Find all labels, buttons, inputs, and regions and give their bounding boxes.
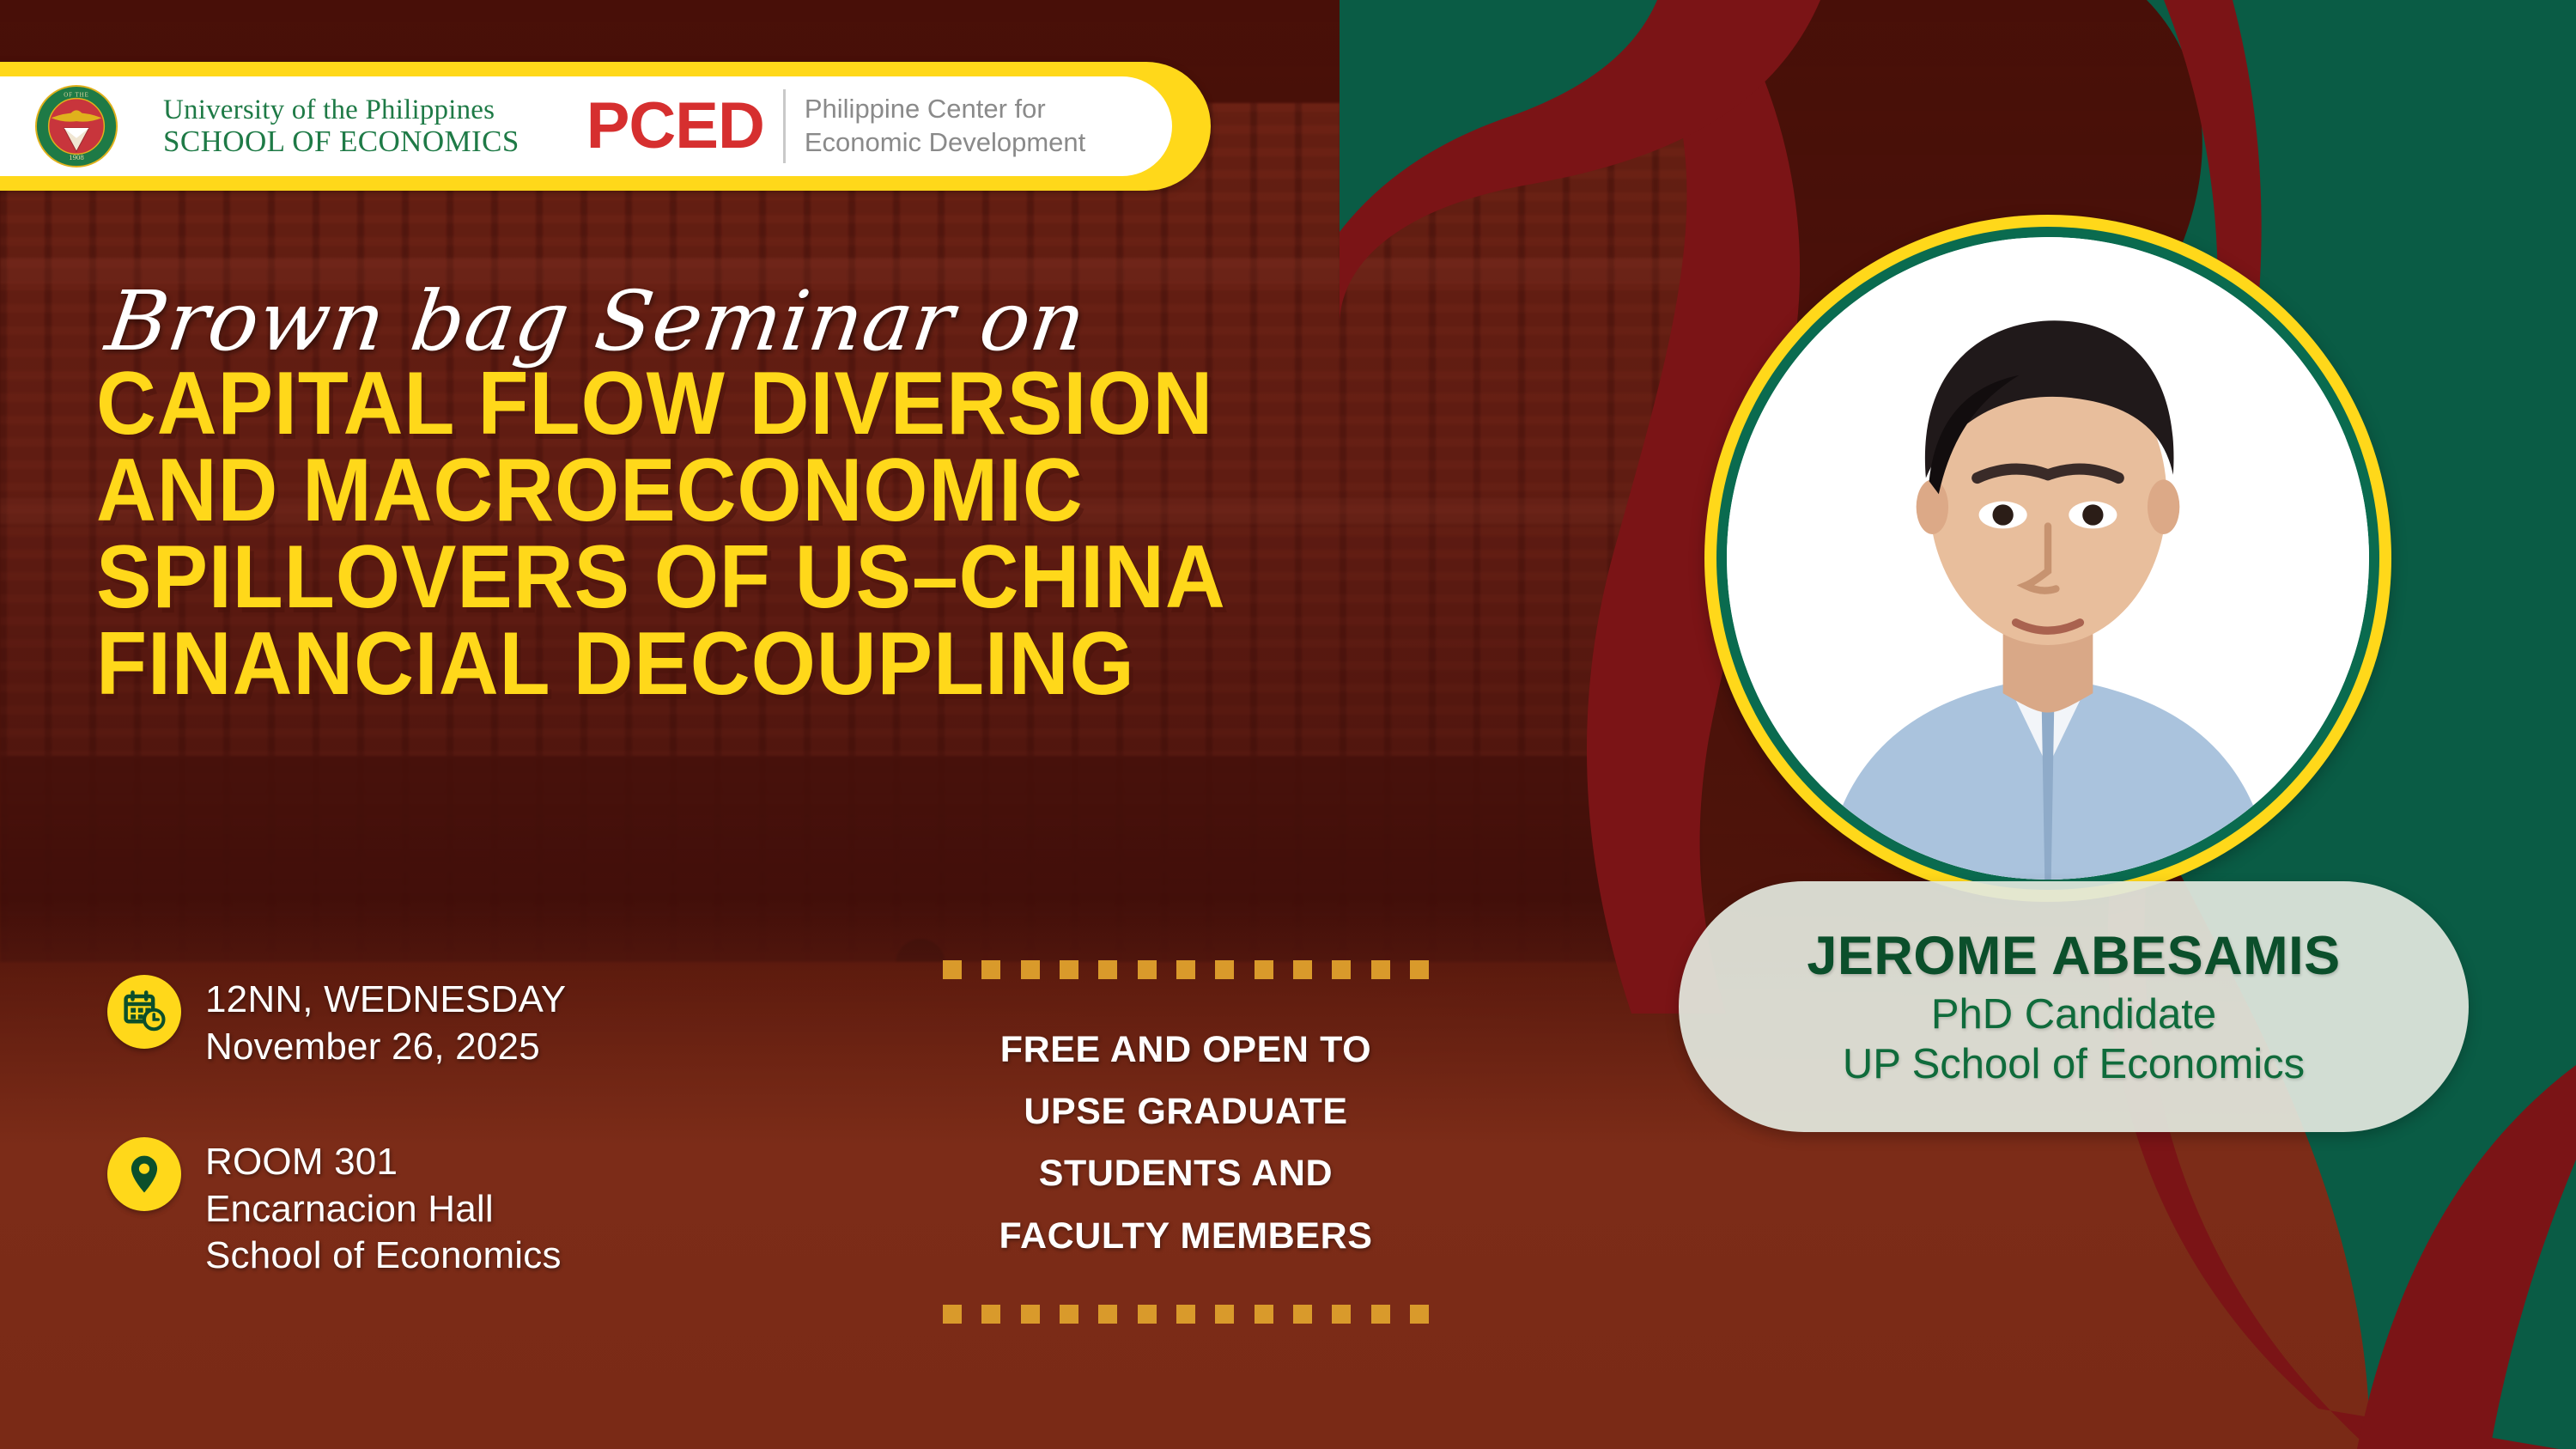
datetime-line-1: 12NN, WEDNESDAY xyxy=(205,977,566,1024)
speaker-photo-frame xyxy=(1704,215,2391,902)
up-wordmark: University of the Philippines SCHOOL OF … xyxy=(163,95,519,157)
pced-fullname: Philippine Center for Economic Developme… xyxy=(805,93,1085,160)
logo-header-bar: 1908 OF THE University of the Philippine… xyxy=(0,62,1211,191)
speaker-avatar xyxy=(1727,237,2369,880)
audience-line-3: STUDENTS AND xyxy=(943,1142,1429,1204)
datetime-row: 12NN, WEDNESDAY November 26, 2025 xyxy=(107,975,760,1070)
speaker-portrait xyxy=(1727,237,2369,880)
seminar-title: CAPITAL FLOW DIVERSION AND MACROECONOMIC… xyxy=(96,361,1534,708)
pced-divider xyxy=(783,89,786,163)
speaker-name: JEROME ABESAMIS xyxy=(1807,925,2340,987)
dotted-border-bottom xyxy=(943,1305,1429,1324)
pced-fullname-line1: Philippine Center for xyxy=(805,93,1085,126)
title-line-3: SPILLOVERS OF US–CHINA xyxy=(96,534,1534,621)
title-line-1: CAPITAL FLOW DIVERSION xyxy=(96,361,1534,447)
seminar-poster: 1908 OF THE University of the Philippine… xyxy=(0,0,2576,1449)
speaker-affiliation: UP School of Economics xyxy=(1843,1040,2305,1088)
datetime-line-2: November 26, 2025 xyxy=(205,1024,566,1071)
up-name-line: University of the Philippines xyxy=(163,95,519,125)
title-line-2: AND MACROECONOMIC xyxy=(96,447,1534,534)
venue-row: ROOM 301 Encarnacion Hall School of Econ… xyxy=(107,1137,760,1280)
audience-text: FREE AND OPEN TO UPSE GRADUATE STUDENTS … xyxy=(943,1019,1429,1267)
audience-line-4: FACULTY MEMBERS xyxy=(943,1205,1429,1267)
venue-line-1: ROOM 301 xyxy=(205,1139,562,1186)
pced-logo: PCED Philippine Center for Economic Deve… xyxy=(586,89,1086,163)
up-unit-line: SCHOOL OF ECONOMICS xyxy=(163,125,519,157)
pced-fullname-line2: Economic Development xyxy=(805,126,1085,160)
up-seal-icon: 1908 OF THE xyxy=(34,84,118,168)
svg-text:OF THE: OF THE xyxy=(64,93,89,99)
dotted-border-top xyxy=(943,960,1429,979)
speaker-nameplate: JEROME ABESAMIS PhD Candidate UP School … xyxy=(1679,881,2469,1132)
audience-line-1: FREE AND OPEN TO xyxy=(943,1019,1429,1081)
event-details: 12NN, WEDNESDAY November 26, 2025 ROOM 3… xyxy=(107,975,760,1347)
speaker-role: PhD Candidate xyxy=(1931,990,2216,1038)
venue-text: ROOM 301 Encarnacion Hall School of Econ… xyxy=(205,1137,562,1280)
venue-line-2: Encarnacion Hall xyxy=(205,1186,562,1233)
map-pin-icon xyxy=(107,1137,181,1211)
audience-panel: FREE AND OPEN TO UPSE GRADUATE STUDENTS … xyxy=(943,960,1429,1324)
logo-header-inner: 1908 OF THE University of the Philippine… xyxy=(0,76,1172,176)
calendar-clock-icon xyxy=(107,975,181,1049)
title-line-4: FINANCIAL DECOUPLING xyxy=(96,621,1534,708)
svg-text:1908: 1908 xyxy=(69,153,84,161)
audience-line-2: UPSE GRADUATE xyxy=(943,1081,1429,1142)
venue-line-3: School of Economics xyxy=(205,1233,562,1280)
datetime-text: 12NN, WEDNESDAY November 26, 2025 xyxy=(205,975,566,1070)
pced-wordmark: PCED xyxy=(586,94,764,159)
